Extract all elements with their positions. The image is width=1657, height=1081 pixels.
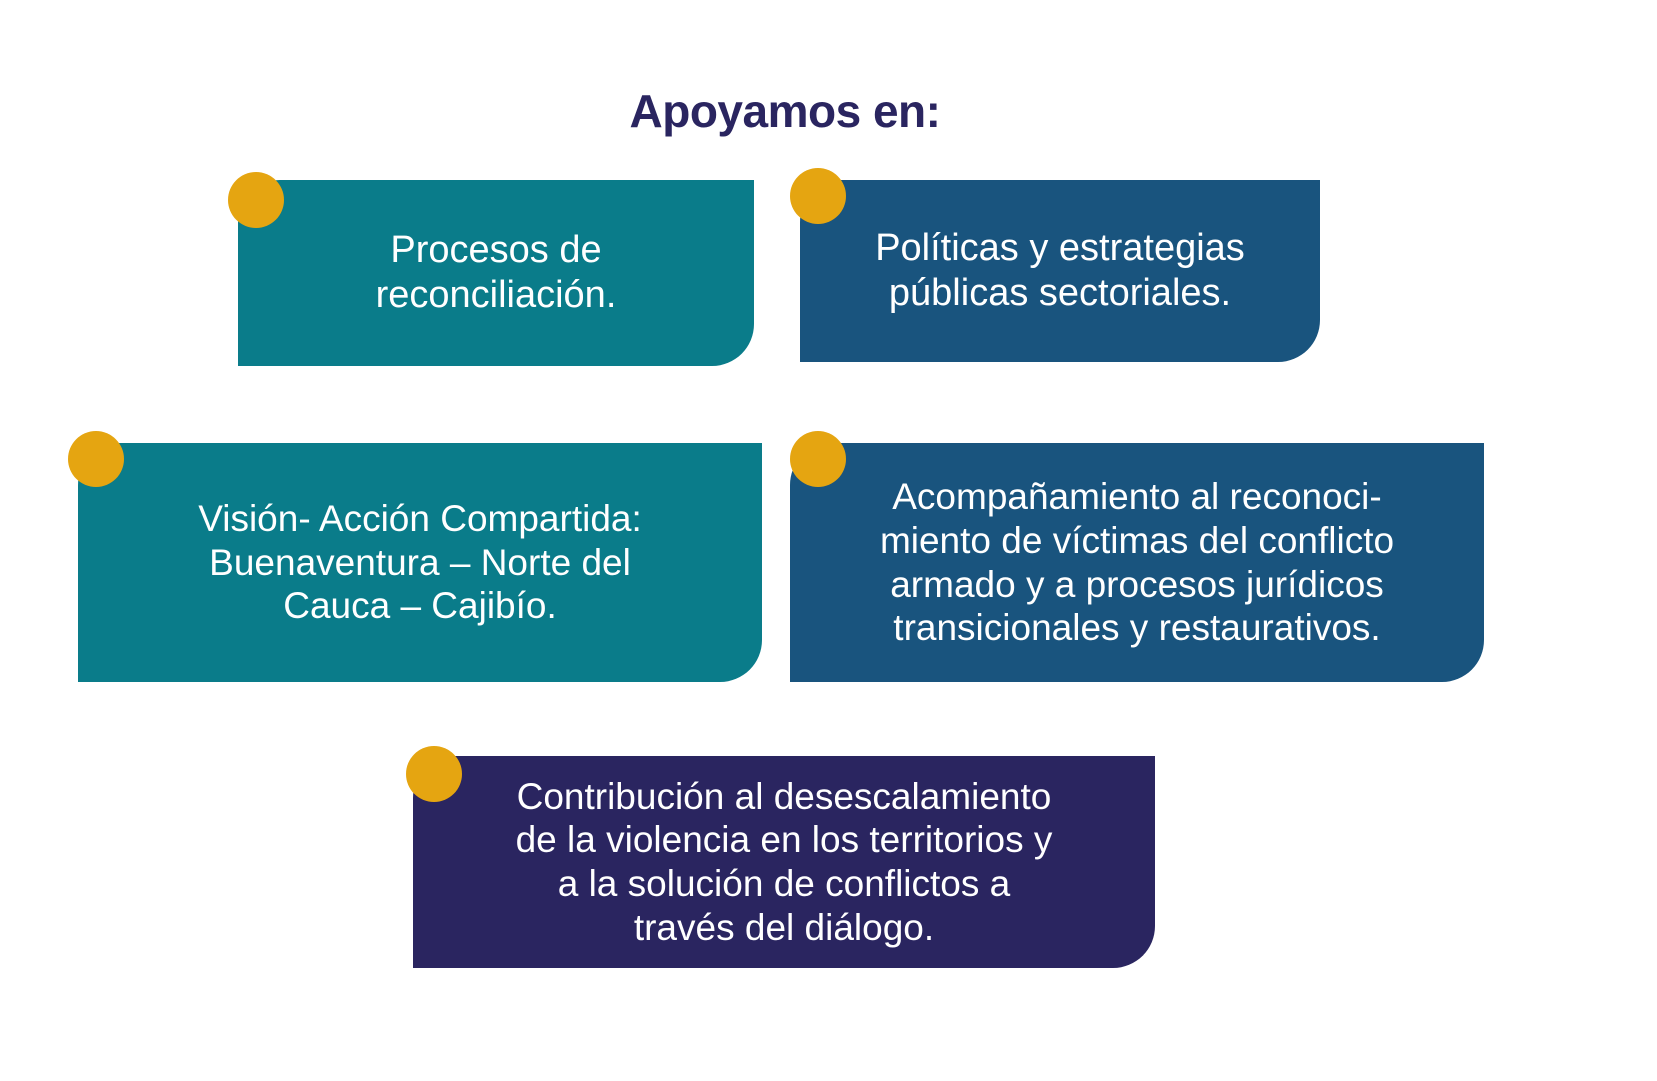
accent-dot-icon [790,431,846,487]
page-title: Apoyamos en: [0,84,1570,138]
info-card-contribucion-desescalamiento[interactable]: Contribución al desescalamiento de la vi… [413,756,1155,968]
accent-dot-icon [790,168,846,224]
info-card-procesos-reconciliacion[interactable]: Procesos de reconciliación. [238,180,754,366]
slide-canvas: Apoyamos en: Procesos de reconciliación.… [0,0,1657,1081]
accent-dot-icon [406,746,462,802]
info-card-vision-accion-compartida[interactable]: Visión- Acción Compartida: Buenaventura … [78,443,762,682]
info-card-text: Acompañamiento al reconoci- miento de ví… [880,475,1394,650]
accent-dot-icon [68,431,124,487]
info-card-text: Políticas y estrategias públicas sectori… [875,226,1245,316]
info-card-text: Contribución al desescalamiento de la vi… [516,775,1053,950]
info-card-politicas-estrategias[interactable]: Políticas y estrategias públicas sectori… [800,180,1320,362]
info-card-text: Procesos de reconciliación. [376,228,617,318]
accent-dot-icon [228,172,284,228]
info-card-text: Visión- Acción Compartida: Buenaventura … [198,497,642,628]
info-card-acompanamiento-victimas[interactable]: Acompañamiento al reconoci- miento de ví… [790,443,1484,682]
